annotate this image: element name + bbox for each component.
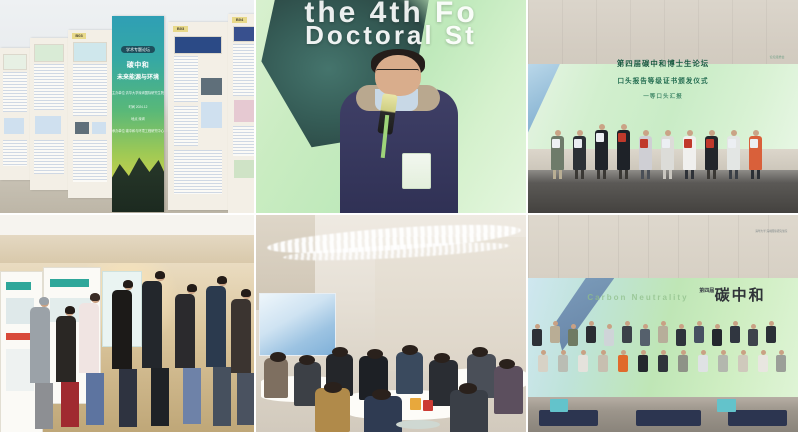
group-member [558, 350, 568, 372]
group-member [550, 321, 560, 343]
group-member [578, 350, 588, 372]
serving-plate [396, 420, 439, 429]
group-member [622, 321, 632, 343]
poster-board: B03 [68, 30, 112, 198]
group-member [676, 324, 686, 346]
stage-name-card [717, 399, 736, 412]
forum-banner-poster: 学术专题论坛 碳中和 未来能源与环境 主办单位 清华大学深圳国际研究生院 时间 … [112, 16, 164, 212]
group-member [658, 321, 668, 343]
attendee-figure [175, 284, 208, 432]
photo-award-ceremony[interactable]: 第四届碳中和博士生论坛 口头报告等级证书颁发仪式 一等口头汇报 论坛组委会 [528, 0, 798, 215]
stage-bench [728, 410, 787, 425]
awardee-figure [572, 130, 587, 170]
banner-chinese-title: 碳中和 [715, 284, 766, 305]
group-member [598, 350, 608, 372]
photo-banquet-hall[interactable]: Conference banquet with attendees seated… [256, 215, 528, 432]
photo-poster-hall[interactable]: B03 学术专题论坛 碳中和 未来能源与环境 主办单位 清华大学深圳国际研究生院… [0, 0, 256, 215]
awardee-figure [660, 130, 675, 170]
group-member [586, 321, 596, 343]
group-member [718, 350, 728, 372]
poster-board: B03 [168, 22, 228, 210]
group-member [738, 350, 748, 372]
drink-bottle [423, 400, 432, 411]
banquet-crowd [256, 332, 526, 432]
ceremony-corner-logo: 论坛组委会 [769, 55, 784, 59]
group-member [712, 324, 722, 346]
group-member [618, 350, 628, 372]
speaker-figure [256, 0, 526, 213]
group-member [730, 321, 740, 343]
group-member [532, 324, 542, 346]
stage-bench [539, 410, 598, 425]
awardee-figure [704, 130, 719, 170]
group-member [766, 321, 776, 343]
group-member [538, 350, 548, 372]
banner-line2: 未来能源与环境 [112, 72, 164, 81]
attendee-figure [231, 289, 254, 432]
banner-sub-2: 时间 2024.12 [112, 104, 164, 109]
banner-english-title: Carbon Neutrality [587, 293, 688, 302]
corridor-ceiling [0, 235, 254, 263]
board-number: B04 [232, 17, 247, 23]
board-number: B03 [173, 26, 188, 32]
awardee-figure [726, 130, 741, 170]
attendee-figure [142, 271, 178, 432]
group-member [640, 324, 650, 346]
attendee-figure [79, 293, 112, 432]
banner-line1: 碳中和 [112, 60, 164, 70]
attendee-figure [30, 297, 58, 432]
group-member [758, 350, 768, 372]
corridor-top-band [0, 215, 254, 235]
awardee-figure [682, 130, 697, 170]
drink-bottle [410, 398, 421, 410]
awardee-figure [616, 124, 631, 170]
banner-sub-4: 承办单位 碳中和与环境工程研究中心 [112, 128, 164, 133]
ceremony-title-line1: 第四届碳中和博士生论坛 [528, 58, 798, 69]
banner-edition-prefix: 第四届 [699, 287, 714, 294]
stage-name-card [550, 399, 569, 412]
photo-keynote-speaker[interactable]: the 4th Fo Doctoral St Speaker with micr… [256, 0, 528, 215]
poster-board [30, 38, 68, 190]
stage-bench [636, 410, 701, 425]
group-member [698, 350, 708, 372]
group-member [776, 350, 786, 372]
awardee-figure [748, 130, 763, 170]
group-corner-logo: 清华大学 深圳国际研究生院 [755, 230, 787, 234]
board-number: B03 [72, 33, 86, 39]
group-wall [528, 215, 798, 287]
group-member [694, 321, 704, 343]
group-member [604, 324, 614, 346]
banner-sub-1: 主办单位 清华大学深圳国际研究生院 [112, 90, 164, 95]
banner-mountain-graphic [112, 145, 164, 212]
awardee-figure [550, 130, 565, 170]
ceremony-title-line3: 一等口头汇报 [528, 92, 798, 100]
awardee-figure [638, 130, 653, 170]
photo-collage: B03 学术专题论坛 碳中和 未来能源与环境 主办单位 清华大学深圳国际研究生院… [0, 0, 798, 432]
group-member [678, 350, 688, 372]
poster-board: B04 [228, 14, 254, 213]
awardee-figure [594, 124, 609, 170]
group-member [748, 324, 758, 346]
banner-pill-label: 学术专题论坛 [121, 46, 154, 53]
ceremony-title-line2: 口头报告等级证书颁发仪式 [528, 75, 798, 85]
attendee-figure [112, 280, 145, 432]
glasses-icon [376, 69, 419, 79]
group-member [568, 324, 578, 346]
name-badge [402, 153, 431, 189]
photo-group[interactable]: Carbon Neutrality 第四届 碳中和 清华大学 深圳国际研究生院 [528, 215, 798, 432]
photo-poster-session-crowd[interactable]: Attendees gathered in a corridor discuss… [0, 215, 256, 432]
poster-board [0, 48, 30, 180]
banner-sub-3: 地点 深圳 [112, 116, 164, 121]
group-member [638, 350, 648, 372]
group-member [658, 350, 668, 372]
